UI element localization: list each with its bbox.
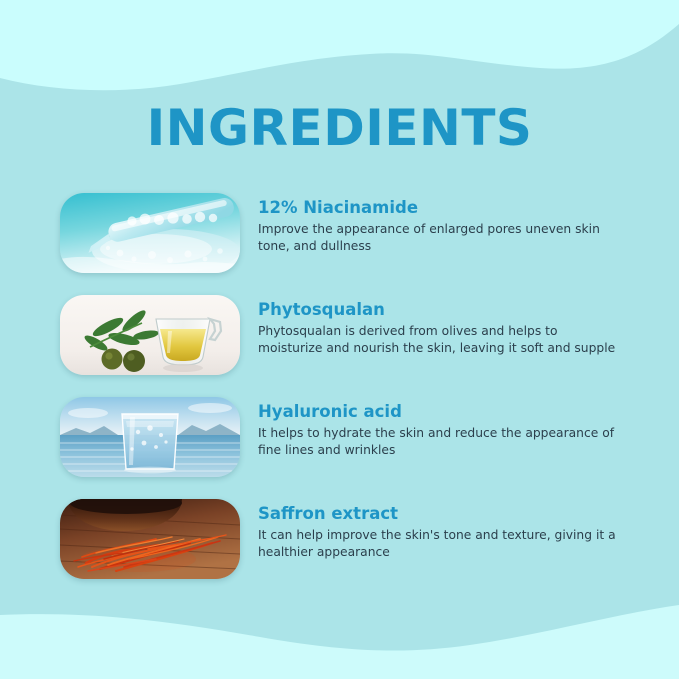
olives-and-olive-oil-pitcher-photo [60, 295, 240, 375]
ingredient-text: Hyaluronic acid It helps to hydrate the … [240, 397, 679, 459]
ingredient-name: Hyaluronic acid [258, 402, 679, 422]
ingredient-description: Improve the appearance of enlarged pores… [258, 221, 618, 255]
ingredient-name: 12% Niacinamide [258, 198, 679, 218]
ingredients-infographic: INGREDIENTS [0, 0, 679, 679]
ingredient-row: Phytosqualan Phytosqualan is derived fro… [0, 295, 679, 375]
ingredient-row: 12% Niacinamide Improve the appearance o… [0, 193, 679, 273]
ingredient-row: Hyaluronic acid It helps to hydrate the … [0, 397, 679, 477]
ingredient-name: Phytosqualan [258, 300, 679, 320]
top-wave-decoration [0, 0, 679, 95]
page-title: INGREDIENTS [147, 100, 533, 156]
ingredient-description: It can help improve the skin's tone and … [258, 527, 618, 561]
serum-dropper-pipette-water-bubbles-photo [60, 193, 240, 273]
ingredient-description: Phytosqualan is derived from olives and … [258, 323, 618, 357]
ingredient-text: Saffron extract It can help improve the … [240, 499, 679, 561]
ingredient-description: It helps to hydrate the skin and reduce … [258, 425, 618, 459]
ingredient-text: 12% Niacinamide Improve the appearance o… [240, 193, 679, 255]
ingredient-text: Phytosqualan Phytosqualan is derived fro… [240, 295, 679, 357]
saffron-threads-on-wood-photo [60, 499, 240, 579]
glass-of-water-over-sea-horizon-photo [60, 397, 240, 477]
ingredient-name: Saffron extract [258, 504, 679, 524]
page-title-container: INGREDIENTS [0, 100, 679, 156]
ingredient-row: Saffron extract It can help improve the … [0, 499, 679, 579]
ingredients-list: 12% Niacinamide Improve the appearance o… [0, 193, 679, 601]
